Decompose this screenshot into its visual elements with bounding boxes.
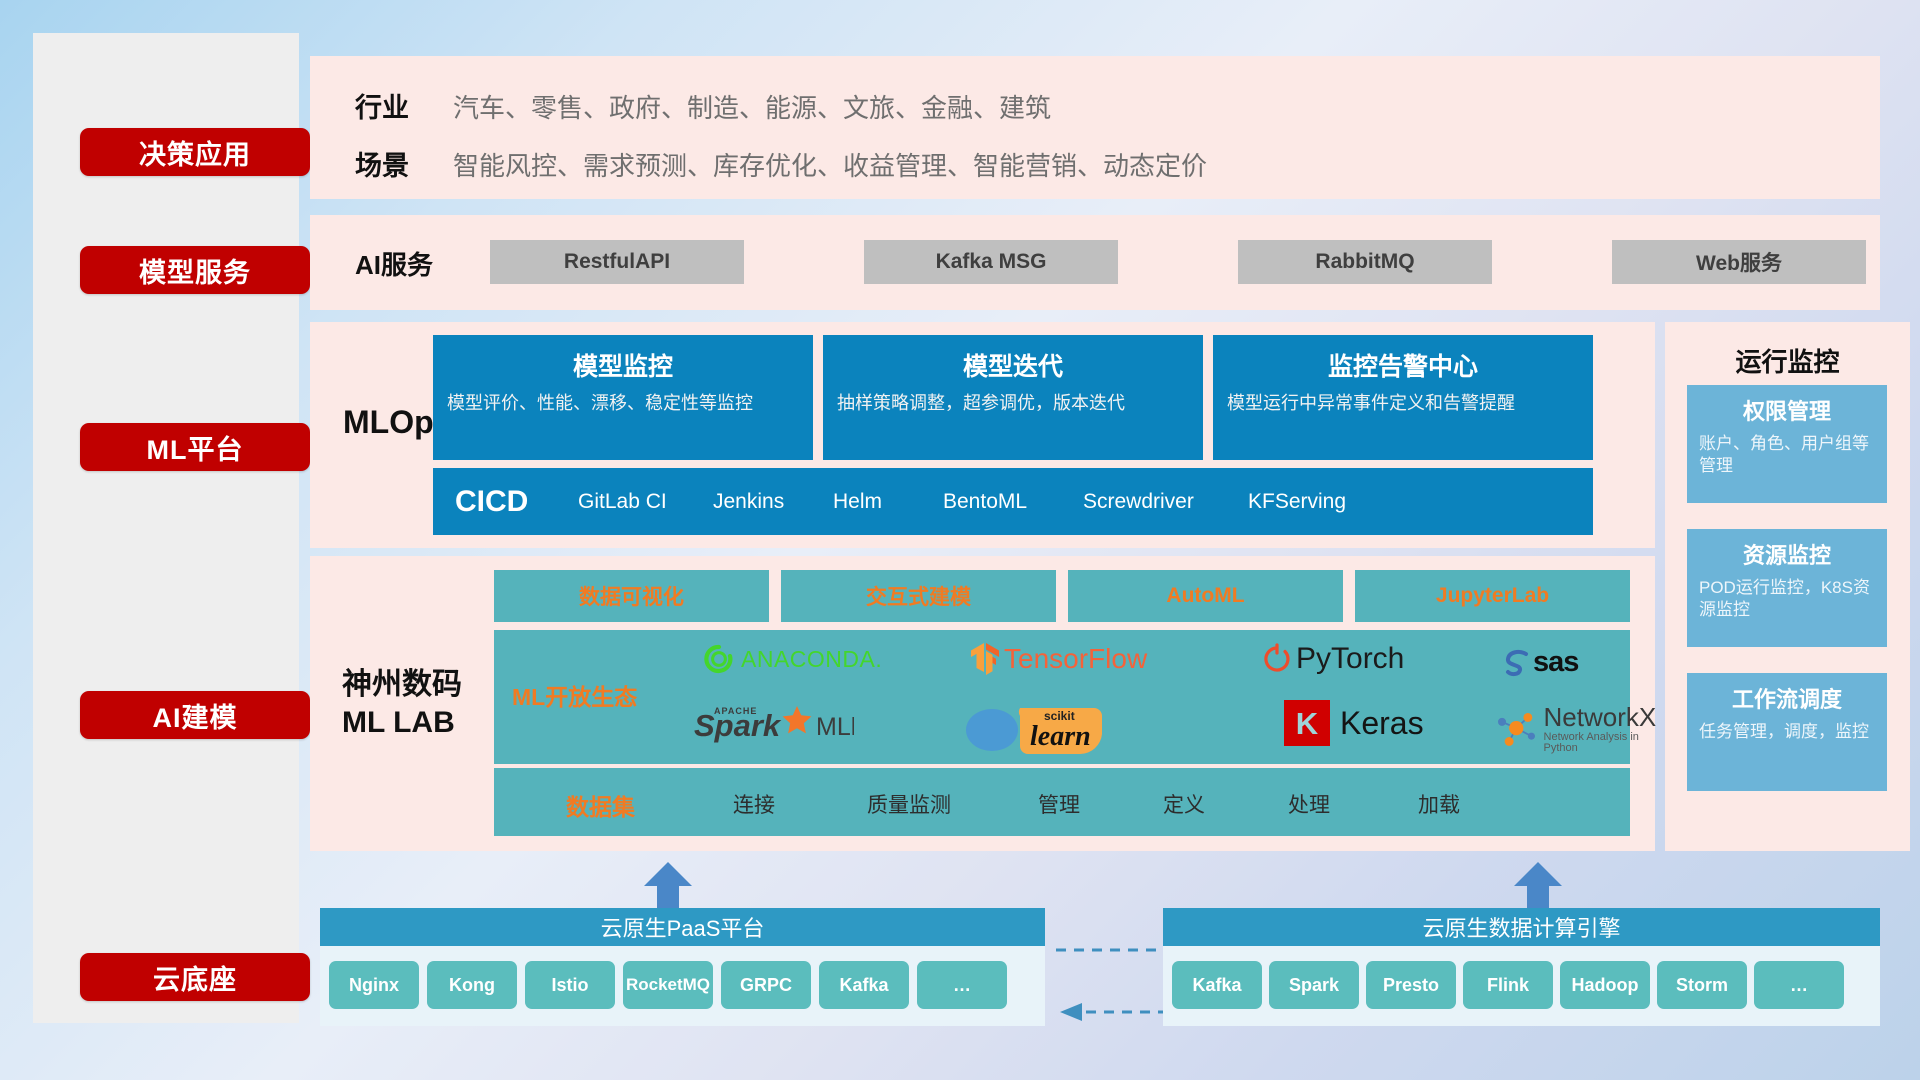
cicd-item-screwdriver[interactable]: Screwdriver [1083, 491, 1203, 513]
ai-service-chip-restfulapi[interactable]: RestfulAPI [490, 240, 744, 284]
rail-item-label: 模型服务 [139, 251, 251, 290]
ml-open-ecosystem-label: ML开放生态 [512, 678, 637, 712]
dataset-item-load[interactable]: 加载 [1394, 789, 1484, 819]
modeling-chip-data-visualization[interactable]: 数据可视化 [494, 570, 769, 622]
chip-label: RestfulAPI [564, 250, 670, 274]
rail-item-cloud-base[interactable]: 云底座 [80, 953, 310, 1001]
chip-label: 交互式建模 [866, 581, 971, 611]
logo-anaconda: ANACONDA. [704, 644, 882, 674]
engine-chip-hadoop[interactable]: Hadoop [1560, 961, 1650, 1009]
dataset-item-quality[interactable]: 质量监测 [839, 789, 979, 819]
mlops-card-alert-center[interactable]: 监控告警中心 模型运行中异常事件定义和告警提醒 [1213, 335, 1593, 460]
dataset-item-define[interactable]: 定义 [1139, 789, 1229, 819]
rail-item-label: 决策应用 [139, 133, 251, 172]
logo-networkx: NetworkX Network Analysis in Python [1494, 704, 1662, 754]
card-title: 权限管理 [1687, 394, 1887, 426]
card-title: 模型监控 [433, 347, 813, 383]
chip-label: AutoML [1166, 584, 1244, 608]
svg-text:learn: learn [1030, 721, 1091, 752]
logo-tensorflow: TensorFlow [970, 642, 1147, 676]
dataset-item-process[interactable]: 处理 [1264, 789, 1354, 819]
chip-label: Kafka MSG [936, 250, 1047, 274]
logo-sas: sas [1502, 646, 1578, 679]
chip-label: RabbitMQ [1315, 250, 1414, 274]
data-engine-up-arrow-icon [1510, 862, 1566, 908]
rail-item-ml-platform[interactable]: ML平台 [80, 423, 310, 471]
rail-item-label: 云底座 [153, 958, 237, 997]
paas-group: 云原生PaaS平台 Nginx Kong Istio RocketMQ GRPC… [320, 908, 1045, 1026]
engine-chip-flink[interactable]: Flink [1463, 961, 1553, 1009]
paas-chip-rocketmq[interactable]: RocketMQ [623, 961, 713, 1009]
paas-chip-grpc[interactable]: GRPC [721, 961, 811, 1009]
ai-modeling-panel: 神州数码 ML LAB 数据可视化 交互式建模 AutoML JupyterLa… [310, 556, 1655, 851]
industry-text: 汽车、零售、政府、制造、能源、文旅、金融、建筑 [453, 88, 1051, 125]
card-title: 资源监控 [1687, 538, 1887, 570]
ml-lab-label: 神州数码 ML LAB [342, 666, 462, 741]
anaconda-icon [704, 644, 734, 674]
cicd-item-bentoml[interactable]: BentoML [943, 491, 1043, 513]
paas-chip-nginx[interactable]: Nginx [329, 961, 419, 1009]
ml-open-ecosystem-band: ML开放生态 ANACONDA. TensorFlow [494, 630, 1630, 764]
ai-service-chip-rabbitmq[interactable]: RabbitMQ [1238, 240, 1492, 284]
scenario-label: 场景 [355, 144, 409, 183]
monitoring-title: 运行监控 [1665, 342, 1910, 379]
tensorflow-wordmark: TensorFlow [1004, 643, 1147, 675]
keras-mark: K [1284, 700, 1330, 746]
dataset-item-manage[interactable]: 管理 [1014, 789, 1104, 819]
paas-header-label: 云原生PaaS平台 [601, 911, 765, 943]
ai-service-chip-kafka-msg[interactable]: Kafka MSG [864, 240, 1118, 284]
card-desc: 抽样策略调整，超参调优，版本迭代 [837, 392, 1189, 416]
chip-label: JupyterLab [1436, 584, 1549, 608]
logo-scikit-learn: scikit learn [964, 700, 1154, 759]
mlops-card-model-iteration[interactable]: 模型迭代 抽样策略调整，超参调优，版本迭代 [823, 335, 1203, 460]
networkx-tagline: Network Analysis in Python [1544, 732, 1662, 754]
cicd-bar: CICD GitLab CI Jenkins Helm BentoML Scre… [433, 468, 1593, 535]
networkx-icon [1494, 707, 1539, 751]
decision-application-panel: 行业 汽车、零售、政府、制造、能源、文旅、金融、建筑 场景 智能风控、需求预测、… [310, 56, 1880, 199]
mlops-panel: MLOps 模型监控 模型评价、性能、漂移、稳定性等监控 模型迭代 抽样策略调整… [310, 322, 1655, 548]
cicd-item-gitlab-ci[interactable]: GitLab CI [578, 491, 678, 513]
data-engine-header: 云原生数据计算引擎 [1163, 908, 1880, 946]
engine-chip-kafka[interactable]: Kafka [1172, 961, 1262, 1009]
paas-chip-kafka[interactable]: Kafka [819, 961, 909, 1009]
engine-chip-storm[interactable]: Storm [1657, 961, 1747, 1009]
card-desc: POD运行监控，K8S资源监控 [1699, 577, 1875, 621]
paas-up-arrow-icon [640, 862, 696, 908]
ml-lab-label-line1: 神州数码 [342, 666, 462, 704]
sas-wordmark: sas [1533, 646, 1578, 679]
logo-keras: K Keras [1284, 700, 1424, 746]
rail-item-model-service[interactable]: 模型服务 [80, 246, 310, 294]
engine-chip-spark[interactable]: Spark [1269, 961, 1359, 1009]
card-title: 监控告警中心 [1213, 347, 1593, 383]
logo-pytorch: PyTorch [1264, 642, 1404, 676]
scikit-learn-icon: scikit learn [964, 700, 1154, 754]
card-desc: 模型运行中异常事件定义和告警提醒 [1227, 392, 1579, 416]
sas-icon [1502, 648, 1532, 678]
rail-item-label: AI建模 [153, 696, 238, 735]
rail-item-label: ML平台 [147, 428, 244, 467]
svg-text:APACHE: APACHE [714, 706, 757, 716]
networkx-wordmark: NetworkX [1544, 704, 1662, 730]
scenario-text: 智能风控、需求预测、库存优化、收益管理、智能营销、动态定价 [453, 146, 1207, 183]
ml-lab-label-line2: ML LAB [342, 704, 462, 742]
paas-header: 云原生PaaS平台 [320, 908, 1045, 946]
card-desc: 模型评价、性能、漂移、稳定性等监控 [447, 392, 799, 416]
tensorflow-icon [970, 642, 1000, 676]
chip-label: Web服务 [1696, 247, 1782, 277]
pytorch-wordmark: PyTorch [1296, 642, 1404, 676]
svg-text:MLlib: MLlib [816, 713, 854, 741]
card-desc: 任务管理，调度，监控 [1699, 721, 1875, 743]
dataset-item-connect[interactable]: 连接 [709, 789, 799, 819]
chip-label: 数据可视化 [579, 581, 684, 611]
cicd-item-kfserving[interactable]: KFServing [1248, 491, 1368, 513]
cicd-item-helm[interactable]: Helm [833, 491, 933, 513]
paas-chip-more[interactable]: … [917, 961, 1007, 1009]
modeling-chip-automl[interactable]: AutoML [1068, 570, 1343, 622]
logo-spark-mllib: Spark APACHE MLlib [694, 702, 854, 750]
monitoring-panel: 运行监控 权限管理 账户、角色、用户组等管理 资源监控 POD运行监控，K8S资… [1665, 322, 1910, 851]
keras-wordmark: Keras [1340, 705, 1424, 742]
pytorch-icon [1264, 643, 1290, 675]
dataset-band: 数据集 连接 质量监测 管理 定义 处理 加载 [494, 768, 1630, 836]
paas-chip-kong[interactable]: Kong [427, 961, 517, 1009]
spark-icon: Spark APACHE MLlib [694, 702, 854, 750]
rail-item-ai-modeling[interactable]: AI建模 [80, 691, 310, 739]
monitoring-card-permission[interactable]: 权限管理 账户、角色、用户组等管理 [1687, 385, 1887, 503]
paas-chip-istio[interactable]: Istio [525, 961, 615, 1009]
data-engine-group: 云原生数据计算引擎 Kafka Spark Presto Flink Hadoo… [1163, 908, 1880, 1026]
monitoring-card-resource[interactable]: 资源监控 POD运行监控，K8S资源监控 [1687, 529, 1887, 647]
ai-service-panel: AI服务 RestfulAPI Kafka MSG RabbitMQ Web服务 [310, 215, 1880, 310]
ai-service-chip-web-service[interactable]: Web服务 [1612, 240, 1866, 284]
cicd-title: CICD [455, 485, 528, 519]
rail-item-decision-app[interactable]: 决策应用 [80, 128, 310, 176]
data-engine-header-label: 云原生数据计算引擎 [1422, 911, 1620, 943]
industry-label: 行业 [355, 86, 409, 125]
dataset-label: 数据集 [566, 788, 635, 822]
engine-chip-more[interactable]: … [1754, 961, 1844, 1009]
mlops-card-model-monitoring[interactable]: 模型监控 模型评价、性能、漂移、稳定性等监控 [433, 335, 813, 460]
left-rail: 决策应用 模型服务 ML平台 AI建模 云底座 [33, 33, 299, 1023]
card-title: 工作流调度 [1687, 682, 1887, 714]
modeling-chip-interactive-modeling[interactable]: 交互式建模 [781, 570, 1056, 622]
anaconda-wordmark: ANACONDA. [741, 646, 882, 673]
cicd-item-jenkins[interactable]: Jenkins [713, 491, 813, 513]
engine-chip-presto[interactable]: Presto [1366, 961, 1456, 1009]
monitoring-card-workflow[interactable]: 工作流调度 任务管理，调度，监控 [1687, 673, 1887, 791]
modeling-chip-jupyterlab[interactable]: JupyterLab [1355, 570, 1630, 622]
card-title: 模型迭代 [823, 347, 1203, 383]
card-desc: 账户、角色、用户组等管理 [1699, 433, 1875, 477]
ai-service-label: AI服务 [355, 245, 433, 282]
